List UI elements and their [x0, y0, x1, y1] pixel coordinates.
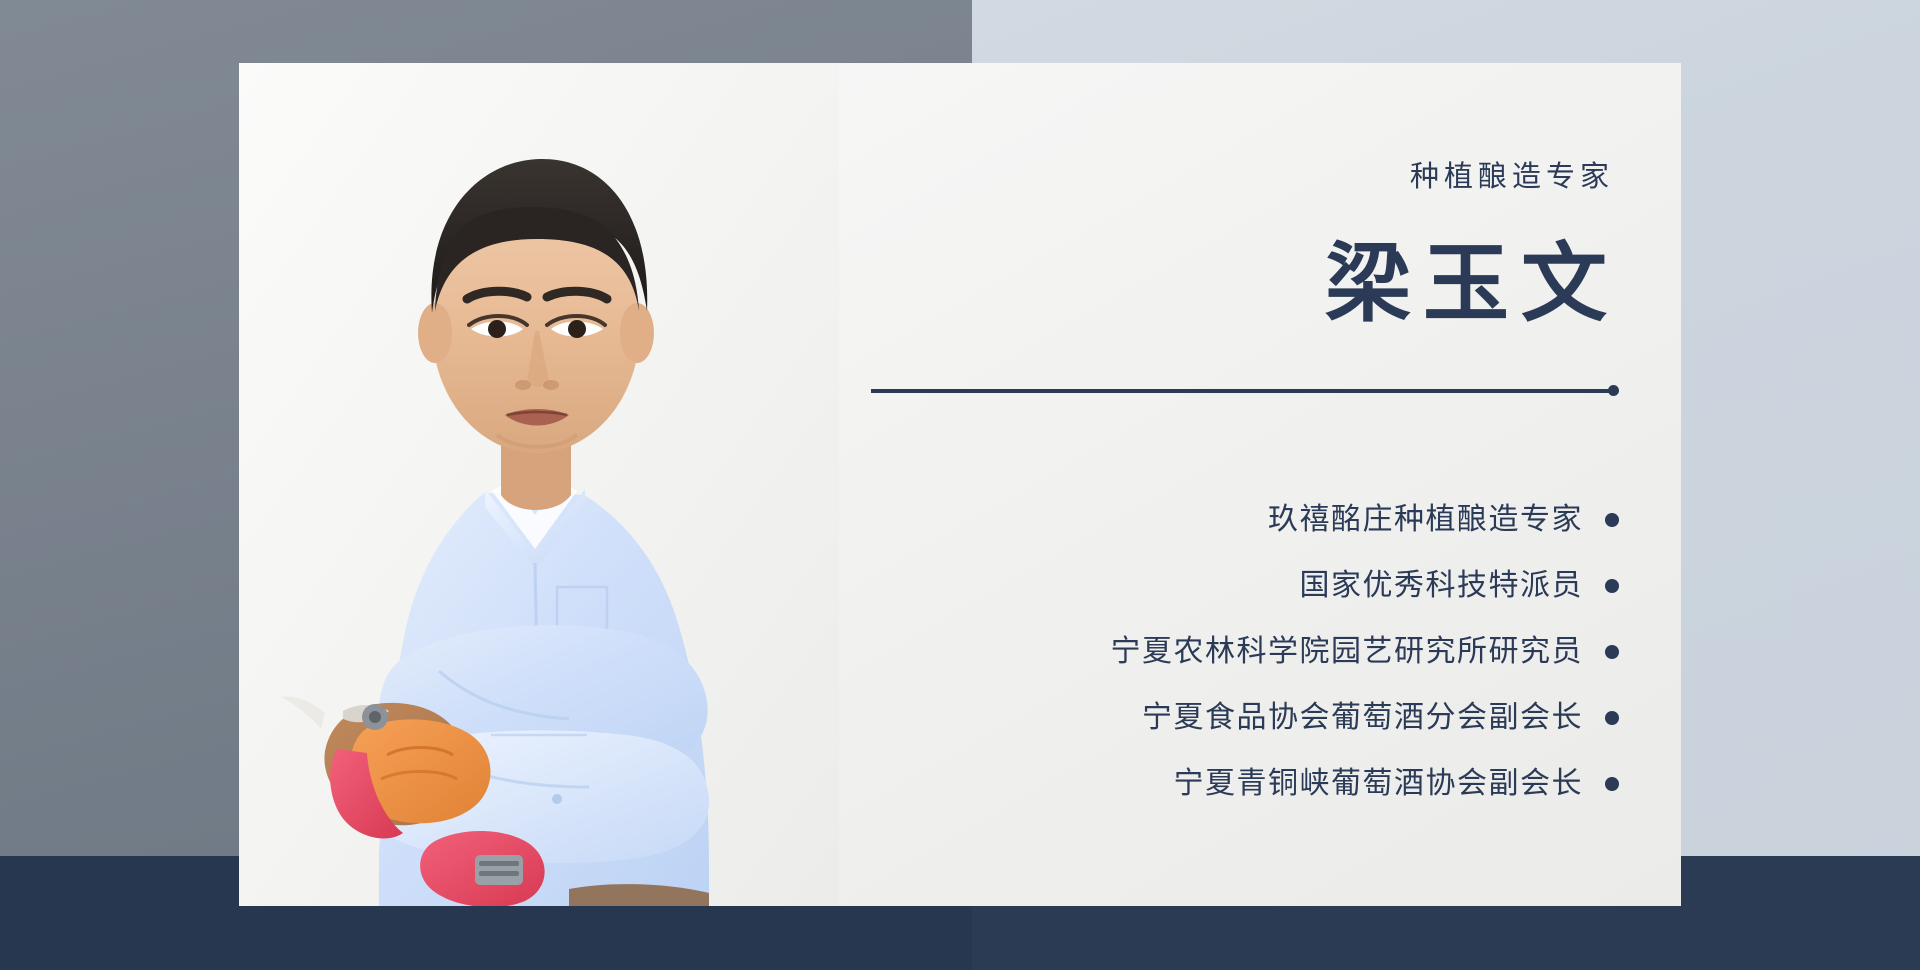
- poster-stage: 种植酿造专家 梁玉文 玖禧酩庄种植酿造专家 国家优秀科技特派员 宁夏农林科学院园…: [0, 0, 1920, 970]
- list-item: 宁夏青铜峡葡萄酒协会副会长: [859, 757, 1619, 811]
- credential-list: 玖禧酩庄种植酿造专家 国家优秀科技特派员 宁夏农林科学院园艺研究所研究员 宁夏食…: [859, 493, 1619, 823]
- bullet-dot-icon: [1605, 645, 1619, 659]
- list-item: 玖禧酩庄种植酿造专家: [859, 493, 1619, 547]
- credential-label: 国家优秀科技特派员: [1300, 571, 1584, 601]
- list-item: 宁夏农林科学院园艺研究所研究员: [859, 625, 1619, 679]
- profile-name: 梁玉文: [1313, 241, 1619, 327]
- portrait-photo: [239, 63, 839, 906]
- list-item: 宁夏食品协会葡萄酒分会副会长: [859, 691, 1619, 745]
- portrait-illustration: [239, 63, 839, 906]
- bullet-dot-icon: [1605, 777, 1619, 791]
- credential-label: 宁夏青铜峡葡萄酒协会副会长: [1174, 769, 1584, 799]
- bullet-dot-icon: [1605, 513, 1619, 527]
- profile-subtitle: 种植酿造专家: [1405, 163, 1614, 192]
- bullet-dot-icon: [1605, 711, 1619, 725]
- divider: [871, 385, 1619, 397]
- credential-label: 宁夏食品协会葡萄酒分会副会长: [1142, 703, 1583, 733]
- bullet-dot-icon: [1605, 579, 1619, 593]
- profile-card: 种植酿造专家 梁玉文 玖禧酩庄种植酿造专家 国家优秀科技特派员 宁夏农林科学院园…: [239, 63, 1681, 906]
- profile-text-column: 种植酿造专家 梁玉文 玖禧酩庄种植酿造专家 国家优秀科技特派员 宁夏农林科学院园…: [879, 63, 1681, 906]
- divider-line: [871, 389, 1614, 393]
- list-item: 国家优秀科技特派员: [859, 559, 1619, 613]
- credential-label: 宁夏农林科学院园艺研究所研究员: [1111, 637, 1584, 667]
- credential-label: 玖禧酩庄种植酿造专家: [1268, 505, 1583, 535]
- divider-end-dot-icon: [1608, 385, 1619, 396]
